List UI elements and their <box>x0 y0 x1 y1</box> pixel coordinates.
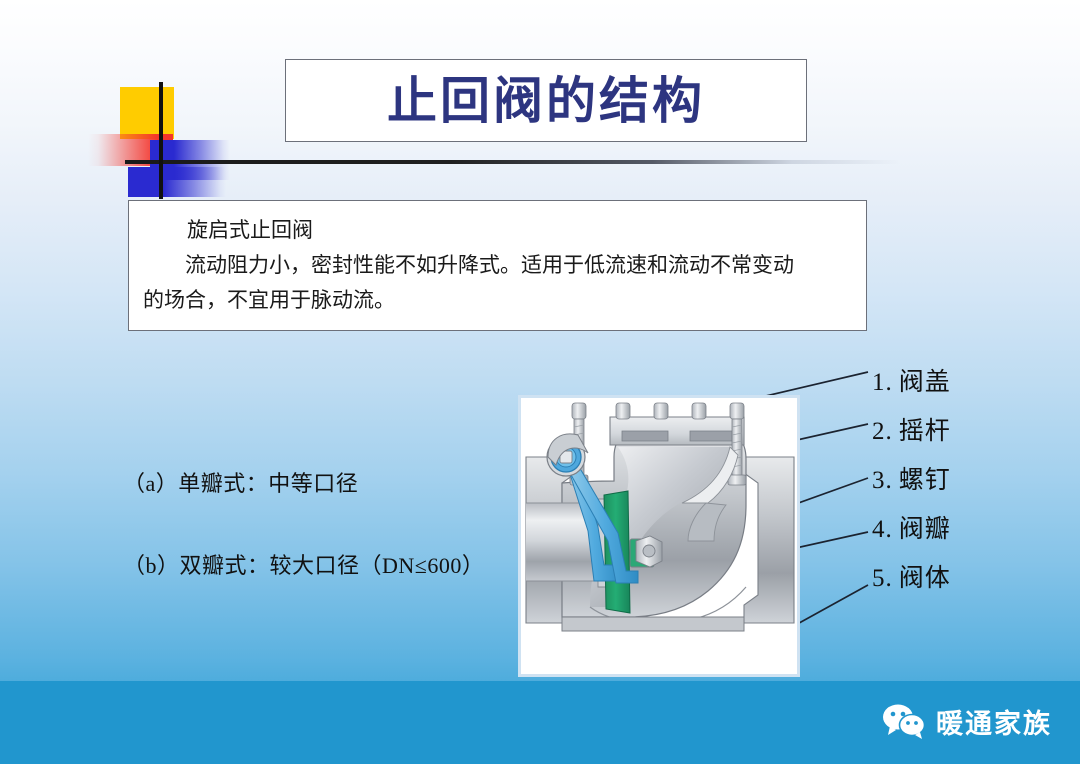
legend-label-2: 摇杆 <box>899 418 951 445</box>
legend-number-1: 1. <box>872 369 893 396</box>
description-line-1: 流动阻力小，密封性能不如升降式。适用于低流速和流动不常变动 <box>143 248 850 283</box>
description-box: 旋启式止回阀 流动阻力小，密封性能不如升降式。适用于低流速和流动不常变动 的场合… <box>128 200 867 331</box>
legend-label-3: 螺钉 <box>899 467 951 494</box>
decoration-vertical-rule <box>159 82 163 199</box>
decoration-yellow-square <box>120 87 174 139</box>
legend-item-5: 5.阀体 <box>872 554 1072 603</box>
legend-label-4: 阀瓣 <box>899 516 951 543</box>
decoration-blue-bar <box>128 167 226 197</box>
legend-item-4: 4.阀瓣 <box>872 505 1072 554</box>
legend-label-1: 阀盖 <box>899 369 951 396</box>
watermark-text: 暖通家族 <box>936 702 1052 741</box>
decoration-horizontal-rule <box>125 160 900 164</box>
legend-number-5: 5. <box>872 565 893 592</box>
slide-canvas: 止回阀的结构 旋启式止回阀 流动阻力小，密封性能不如升降式。适用于低流速和流动不… <box>0 0 1080 764</box>
caption-single-disc: （a）单瓣式：中等口径 <box>123 466 358 498</box>
description-line-2: 的场合，不宜用于脉动流。 <box>143 283 850 318</box>
valve-diagram-panel <box>518 395 800 677</box>
legend-item-3: 3.螺钉 <box>872 456 1072 505</box>
legend-item-2: 2.摇杆 <box>872 407 1072 456</box>
title-box: 止回阀的结构 <box>285 59 807 142</box>
legend-number-3: 3. <box>872 467 893 494</box>
wechat-icon <box>882 703 926 739</box>
legend-item-1: 1.阀盖 <box>872 358 1072 407</box>
legend-number-4: 4. <box>872 516 893 543</box>
description-heading: 旋启式止回阀 <box>143 213 850 248</box>
legend-list: 1.阀盖 2.摇杆 3.螺钉 4.阀瓣 5.阀体 <box>872 358 1072 603</box>
watermark: 暖通家族 <box>882 700 1052 742</box>
legend-label-5: 阀体 <box>899 565 951 592</box>
caption-double-disc: （b）双瓣式：较大口径（DN≤600） <box>123 548 484 580</box>
legend-number-2: 2. <box>872 418 893 445</box>
page-title: 止回阀的结构 <box>387 76 705 126</box>
swing-check-valve-illustration <box>518 395 800 677</box>
